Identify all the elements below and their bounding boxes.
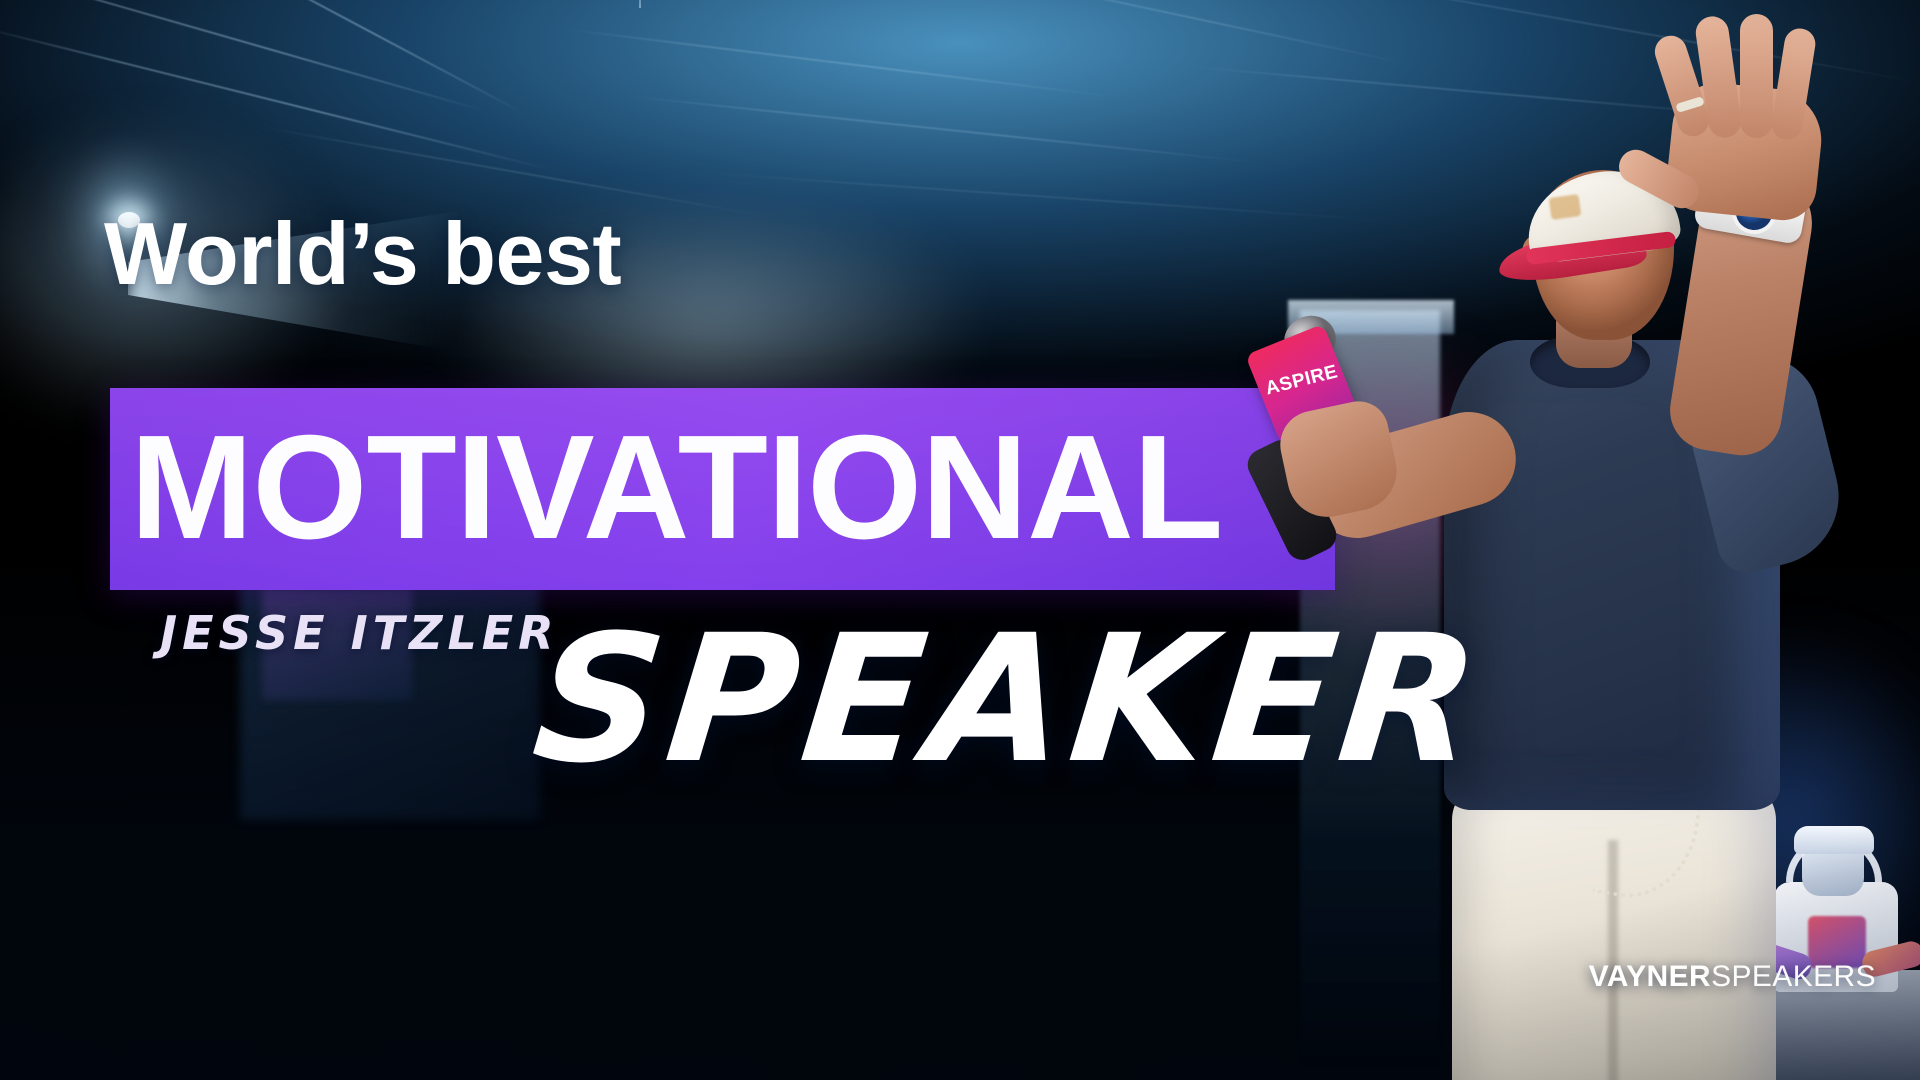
script-word: SPEAKER (527, 612, 1492, 788)
speaker-name: JESSE ITZLER (160, 606, 559, 660)
page-title: MOTIVATIONAL (130, 414, 1222, 562)
kicker-text: World’s best (104, 210, 621, 298)
cap-logo-icon (1549, 194, 1582, 220)
brand-logo-primary: VAYNER (1589, 960, 1711, 993)
speaker-figure: ASPIRE (1380, 40, 1920, 1080)
finger (1740, 14, 1773, 138)
brand-logo-secondary: SPEAKERS (1711, 960, 1876, 993)
brand-logo[interactable]: VAYNERSPEAKERS (1589, 960, 1876, 994)
pendant-lamp-icon (1190, 0, 1236, 26)
microphone-flag-label: ASPIRE (1263, 361, 1340, 400)
poster-canvas: World’s best MOTIVATIONAL JESSE ITZLER S… (0, 0, 1920, 1080)
pendant-lamp-icon (598, 6, 682, 64)
